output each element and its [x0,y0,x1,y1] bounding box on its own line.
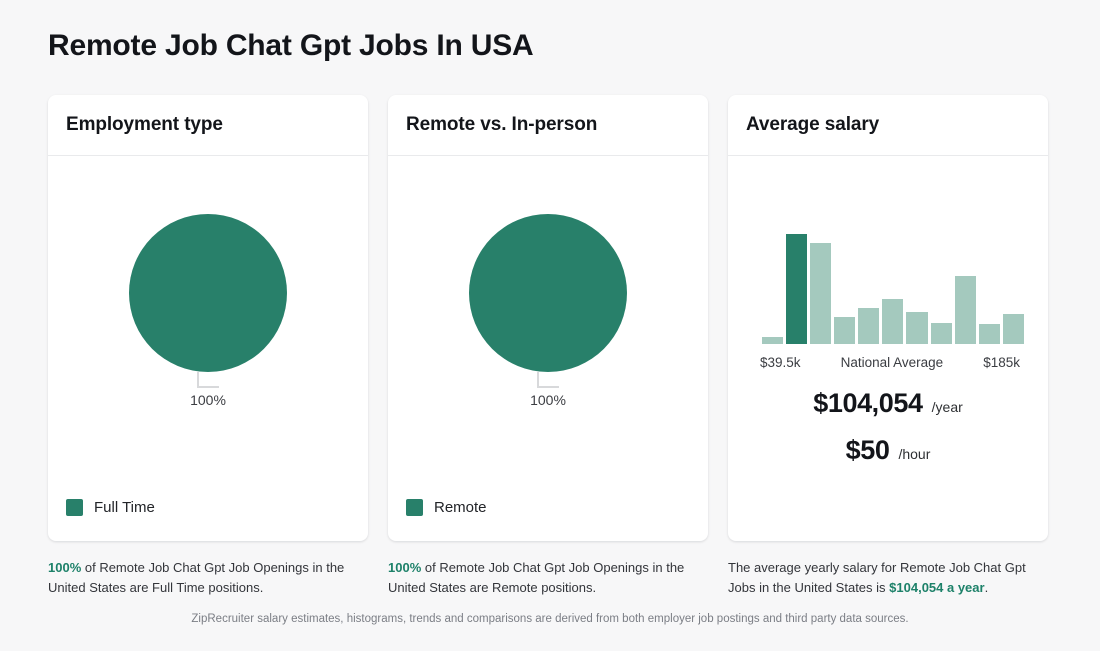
histogram-bar[interactable] [1003,314,1024,344]
card-header-average-salary: Average salary [728,95,1048,156]
pie-percent-label-employment: 100% [66,392,350,408]
salary-row-yearly: $104,054 /year [746,388,1030,419]
histogram-bar[interactable] [810,243,831,344]
note-highlight-salary: $104,054 a year [889,580,984,595]
pie-chart-remote-vs-inperson: 100% [406,156,690,456]
page-title: Remote Job Chat Gpt Jobs In USA [48,26,534,65]
note-highlight-remote: 100% [388,560,421,575]
card-header-employment-type: Employment type [48,95,368,156]
note-remote-vs-inperson: 100% of Remote Job Chat Gpt Job Openings… [388,558,704,597]
card-title-remote-vs-inperson: Remote vs. In-person [406,114,597,136]
salary-yearly-unit: /year [932,399,963,415]
page-root: Remote Job Chat Gpt Jobs In USA Employme… [0,0,1100,651]
legend-label-full-time: Full Time [94,499,155,516]
legend-employment-type: Full Time [66,499,155,516]
column-remote-vs-inperson: Remote vs. In-person 100% Remote 100% of… [388,95,708,597]
salary-yearly-value: $104,054 [813,388,922,419]
note-average-salary: The average yearly salary for Remote Job… [728,558,1044,597]
pie-slice-remote[interactable] [469,214,627,372]
salary-summary: $104,054 /year $50 /hour [746,388,1030,466]
card-header-remote-vs-inperson: Remote vs. In-person [388,95,708,156]
card-title-employment-type: Employment type [66,114,223,136]
legend-swatch-icon [406,499,423,516]
note-employment-type: 100% of Remote Job Chat Gpt Job Openings… [48,558,364,597]
legend-remote-vs-inperson: Remote [406,499,487,516]
note-highlight-employment: 100% [48,560,81,575]
cards-row: Employment type 100% Full Time 100% of R… [48,95,1048,597]
pie-chart-employment-type: 100% [66,156,350,456]
salary-row-hourly: $50 /hour [746,435,1030,466]
note-text-employment: of Remote Job Chat Gpt Job Openings in t… [48,560,344,595]
card-title-average-salary: Average salary [746,114,879,136]
histogram-bar[interactable] [979,324,1000,344]
note-suffix-salary: . [985,580,989,595]
histogram-bar[interactable] [882,299,903,344]
column-average-salary: Average salary $39.5k National Average $… [728,95,1048,597]
histogram-bar[interactable] [931,323,952,344]
histogram-bar[interactable] [834,317,855,345]
histogram-bar[interactable] [906,312,927,344]
histogram-bars [762,234,1048,344]
axis-label-national-average: National Average [841,355,944,370]
histogram-bar[interactable] [762,337,783,344]
histogram-bar[interactable] [955,276,976,344]
histogram-axis-labels: $39.5k National Average $185k [760,355,1020,370]
column-employment-type: Employment type 100% Full Time 100% of R… [48,95,368,597]
salary-hourly-value: $50 [846,435,890,466]
pie-slice-full-time[interactable] [129,214,287,372]
axis-label-max: $185k [983,355,1020,370]
histogram-bar[interactable] [858,308,879,344]
card-body-average-salary: $39.5k National Average $185k $104,054 /… [728,156,1048,541]
salary-histogram: $39.5k National Average $185k $104,054 /… [746,156,1030,402]
card-employment-type: Employment type 100% Full Time [48,95,368,541]
pie-percent-label-remote: 100% [406,392,690,408]
salary-hourly-unit: /hour [898,446,930,462]
card-average-salary: Average salary $39.5k National Average $… [728,95,1048,541]
legend-swatch-icon [66,499,83,516]
note-text-remote: of Remote Job Chat Gpt Job Openings in t… [388,560,684,595]
histogram-bar[interactable] [786,234,807,344]
card-remote-vs-inperson: Remote vs. In-person 100% Remote [388,95,708,541]
pie-leader-line-icon [197,372,219,388]
card-body-employment-type: 100% Full Time [48,156,368,541]
footer-disclaimer: ZipRecruiter salary estimates, histogram… [0,613,1100,625]
pie-leader-line-icon [537,372,559,388]
card-body-remote-vs-inperson: 100% Remote [388,156,708,541]
legend-label-remote: Remote [434,499,487,516]
axis-label-min: $39.5k [760,355,801,370]
